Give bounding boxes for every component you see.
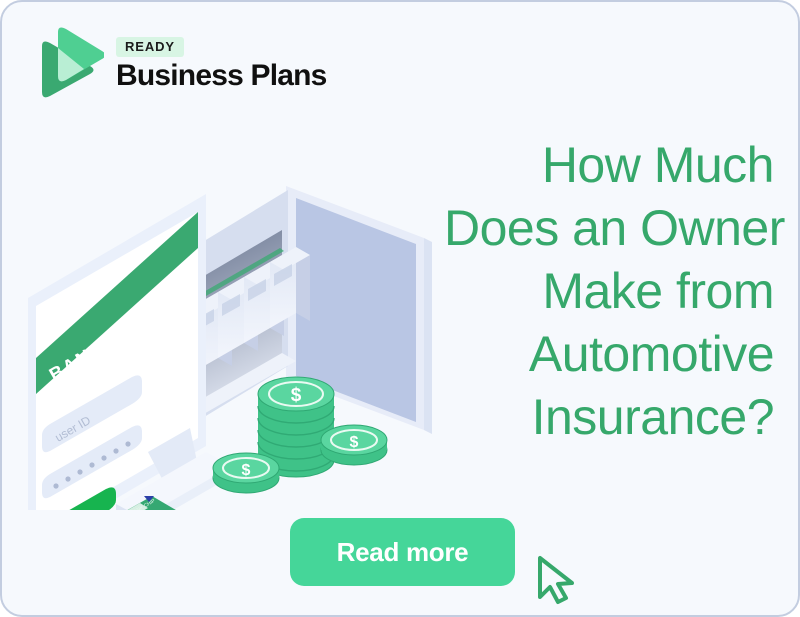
brand-text-block: READY Business Plans bbox=[116, 37, 327, 91]
promo-banner: READY Business Plans How Much Does an Ow… bbox=[0, 0, 800, 617]
headline-line-5: Insurance? bbox=[444, 386, 774, 449]
read-more-button[interactable]: Read more bbox=[290, 518, 515, 586]
svg-text:$: $ bbox=[350, 434, 359, 451]
ready-badge: READY bbox=[116, 37, 184, 57]
brand-lockup: READY Business Plans bbox=[32, 26, 327, 102]
isometric-banking-vault-illustration: BANKING user ID bbox=[20, 130, 440, 510]
coin-loose-right: $ bbox=[321, 425, 387, 465]
headline-line-3: Make from bbox=[444, 260, 774, 323]
play-triangle-logo-icon bbox=[32, 26, 104, 102]
coin-dollar-symbol: $ bbox=[291, 385, 302, 406]
headline: How Much Does an Owner Make from Automot… bbox=[444, 134, 774, 449]
headline-line-4: Automotive bbox=[444, 323, 774, 386]
coin-loose-left: $ bbox=[213, 453, 279, 493]
headline-line-1: How Much bbox=[444, 134, 774, 197]
svg-text:$: $ bbox=[242, 462, 251, 479]
brand-wordmark: Business Plans bbox=[116, 60, 327, 92]
headline-line-2: Does an Owner bbox=[444, 197, 774, 260]
mouse-pointer-icon bbox=[530, 550, 586, 608]
